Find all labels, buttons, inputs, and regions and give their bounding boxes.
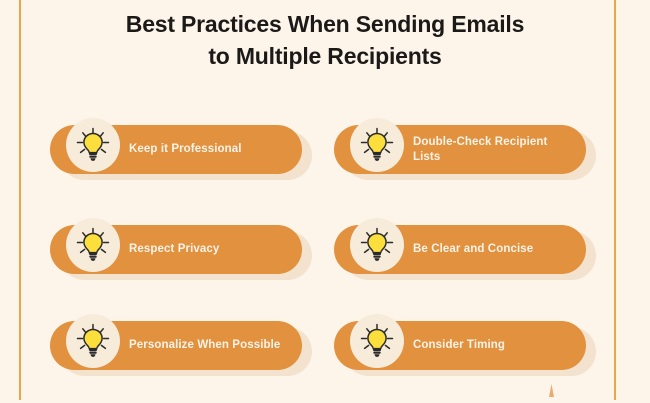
practice-card[interactable]: Consider Timing (334, 314, 596, 376)
lightbulb-icon (350, 218, 404, 272)
card-label: Double-Check Recipient Lists (413, 135, 576, 165)
practice-card[interactable]: Personalize When Possible (50, 314, 312, 376)
lightbulb-icon (66, 314, 120, 368)
lightbulb-icon (350, 118, 404, 172)
bottom-decoration-marker (547, 384, 556, 398)
practice-card-grid: Keep it Professional (50, 118, 596, 388)
page-title-line-1: Best Practices When Sending Emails (40, 8, 610, 40)
card-label: Be Clear and Concise (413, 242, 533, 257)
lightbulb-icon (350, 314, 404, 368)
lightbulb-icon (66, 118, 120, 172)
page-title-line-2: to Multiple Recipients (40, 40, 610, 72)
infographic-page: Best Practices When Sending Emails to Mu… (0, 0, 650, 400)
left-border-rule (19, 0, 21, 400)
card-label: Personalize When Possible (129, 338, 280, 353)
card-label: Keep it Professional (129, 142, 242, 157)
lightbulb-icon (66, 218, 120, 272)
practice-card[interactable]: Double-Check Recipient Lists (334, 118, 596, 180)
practice-card[interactable]: Be Clear and Concise (334, 218, 596, 280)
practice-card[interactable]: Keep it Professional (50, 118, 312, 180)
right-border-rule (614, 0, 616, 400)
card-label: Respect Privacy (129, 242, 219, 257)
practice-card[interactable]: Respect Privacy (50, 218, 312, 280)
card-label: Consider Timing (413, 338, 505, 353)
page-title: Best Practices When Sending Emails to Mu… (40, 8, 610, 72)
